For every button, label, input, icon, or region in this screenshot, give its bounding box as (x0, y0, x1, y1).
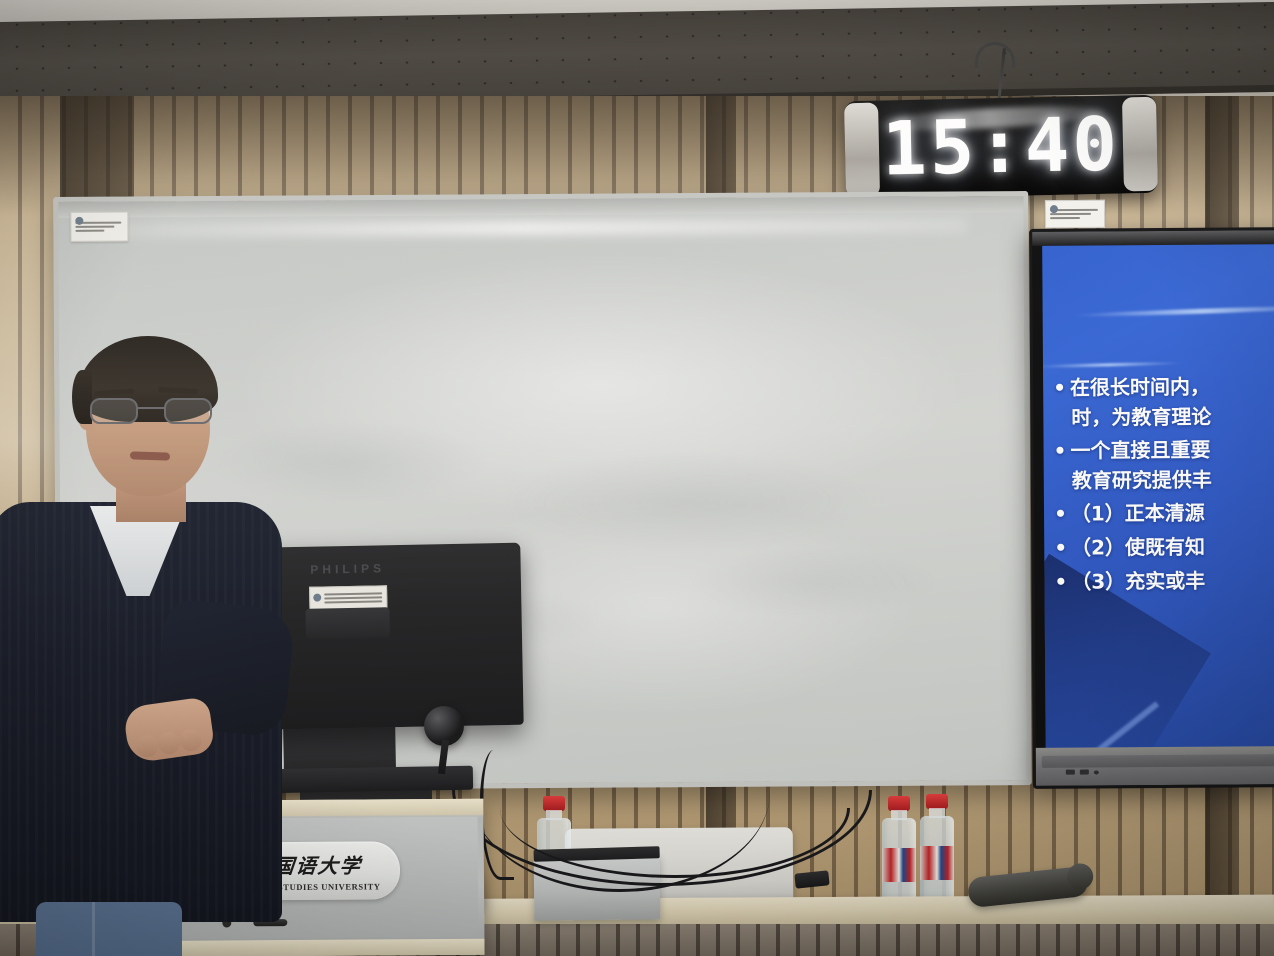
bottle-label (882, 848, 916, 882)
bullet-icon: • (1054, 502, 1067, 526)
slide-bullet-4: •（2）使既有知 (1054, 532, 1274, 563)
slide-bullet-1-line1: 在很长时间内， (1070, 375, 1210, 400)
presenter-mouth (130, 451, 170, 460)
usb-port-icon[interactable] (1066, 770, 1075, 775)
glasses-lens-left (90, 398, 138, 424)
sticker-seal-icon (1050, 205, 1058, 213)
bullet-icon: • (1053, 376, 1066, 400)
slide-bullet-2-line2: 教育研究提供丰 (1054, 465, 1274, 496)
power-indicator-icon (1094, 770, 1099, 774)
slide-screen: •在很长时间内， 时，为教育理论 •一个直接且重要 教育研究提供丰 •（1）正本… (1042, 244, 1274, 750)
slide-bullet-list: •在很长时间内， 时，为教育理论 •一个直接且重要 教育研究提供丰 •（1）正本… (1053, 372, 1274, 601)
bullet-icon: • (1054, 536, 1067, 560)
glasses-bridge (138, 407, 164, 409)
asset-label-sticker-display (1045, 200, 1105, 228)
bottle-cap (888, 796, 910, 811)
bottle-cap (926, 794, 948, 809)
finger (178, 728, 203, 753)
slide-bullet-1: •在很长时间内， 时，为教育理论 (1053, 372, 1274, 433)
digital-clock: 15:40 (844, 95, 1158, 200)
jeans-seam (92, 902, 95, 956)
sticker-seal-icon (313, 594, 321, 602)
water-bottle[interactable] (919, 794, 955, 906)
slide-decorative-wave (1073, 304, 1274, 318)
presenter (0, 332, 290, 956)
bottle-label (920, 846, 954, 880)
sticker-line (324, 592, 382, 595)
finger (156, 731, 181, 756)
display-port-row[interactable] (1066, 769, 1099, 774)
sticker-line (324, 600, 382, 603)
asset-label-sticker (70, 212, 128, 242)
monitor-neck (305, 607, 390, 639)
bullet-icon: • (1054, 569, 1067, 593)
sticker-line (75, 226, 114, 228)
sticker-line (75, 230, 104, 232)
slide-bullet-1-line2: 时，为教育理论 (1053, 402, 1274, 433)
water-bottle[interactable] (881, 796, 917, 908)
clock-body: 15:40 (844, 95, 1158, 200)
usb-port-icon[interactable] (1080, 770, 1089, 775)
presentation-display[interactable]: •在很长时间内， 时，为教育理论 •一个直接且重要 教育研究提供丰 •（1）正本… (1029, 227, 1274, 789)
slide-bullet-2: •一个直接且重要 教育研究提供丰 (1054, 435, 1274, 496)
sticker-line (1050, 213, 1091, 215)
clock-endcap-left (844, 103, 880, 198)
slide-bullet-4-line1: （2）使既有知 (1071, 535, 1205, 560)
sticker-line (324, 596, 382, 599)
slide-bullet-2-line1: 一个直接且重要 (1070, 438, 1210, 463)
slide-bullet-5: •（3）充实或丰 (1054, 566, 1274, 597)
slide-bullet-3: •（1）正本清源 (1054, 498, 1274, 529)
slide-bullet-5-line1: （3）充实或丰 (1071, 568, 1205, 593)
slide-decorative-wave (1042, 362, 1183, 369)
presenter-jeans (36, 902, 182, 956)
presenter-glasses (90, 398, 212, 424)
clock-endcap-right (1122, 97, 1158, 192)
glasses-lens-right (164, 398, 212, 424)
classroom-scene: 15:40 (0, 0, 1274, 956)
bullet-icon: • (1054, 439, 1067, 463)
slide-bullet-3-line1: （1）正本清源 (1071, 501, 1205, 526)
display-speaker-grille (1042, 754, 1274, 768)
sticker-line (1050, 217, 1080, 219)
finger (135, 734, 160, 759)
sticker-seal-icon (75, 217, 83, 225)
display-bottom-bezel (1036, 746, 1274, 786)
